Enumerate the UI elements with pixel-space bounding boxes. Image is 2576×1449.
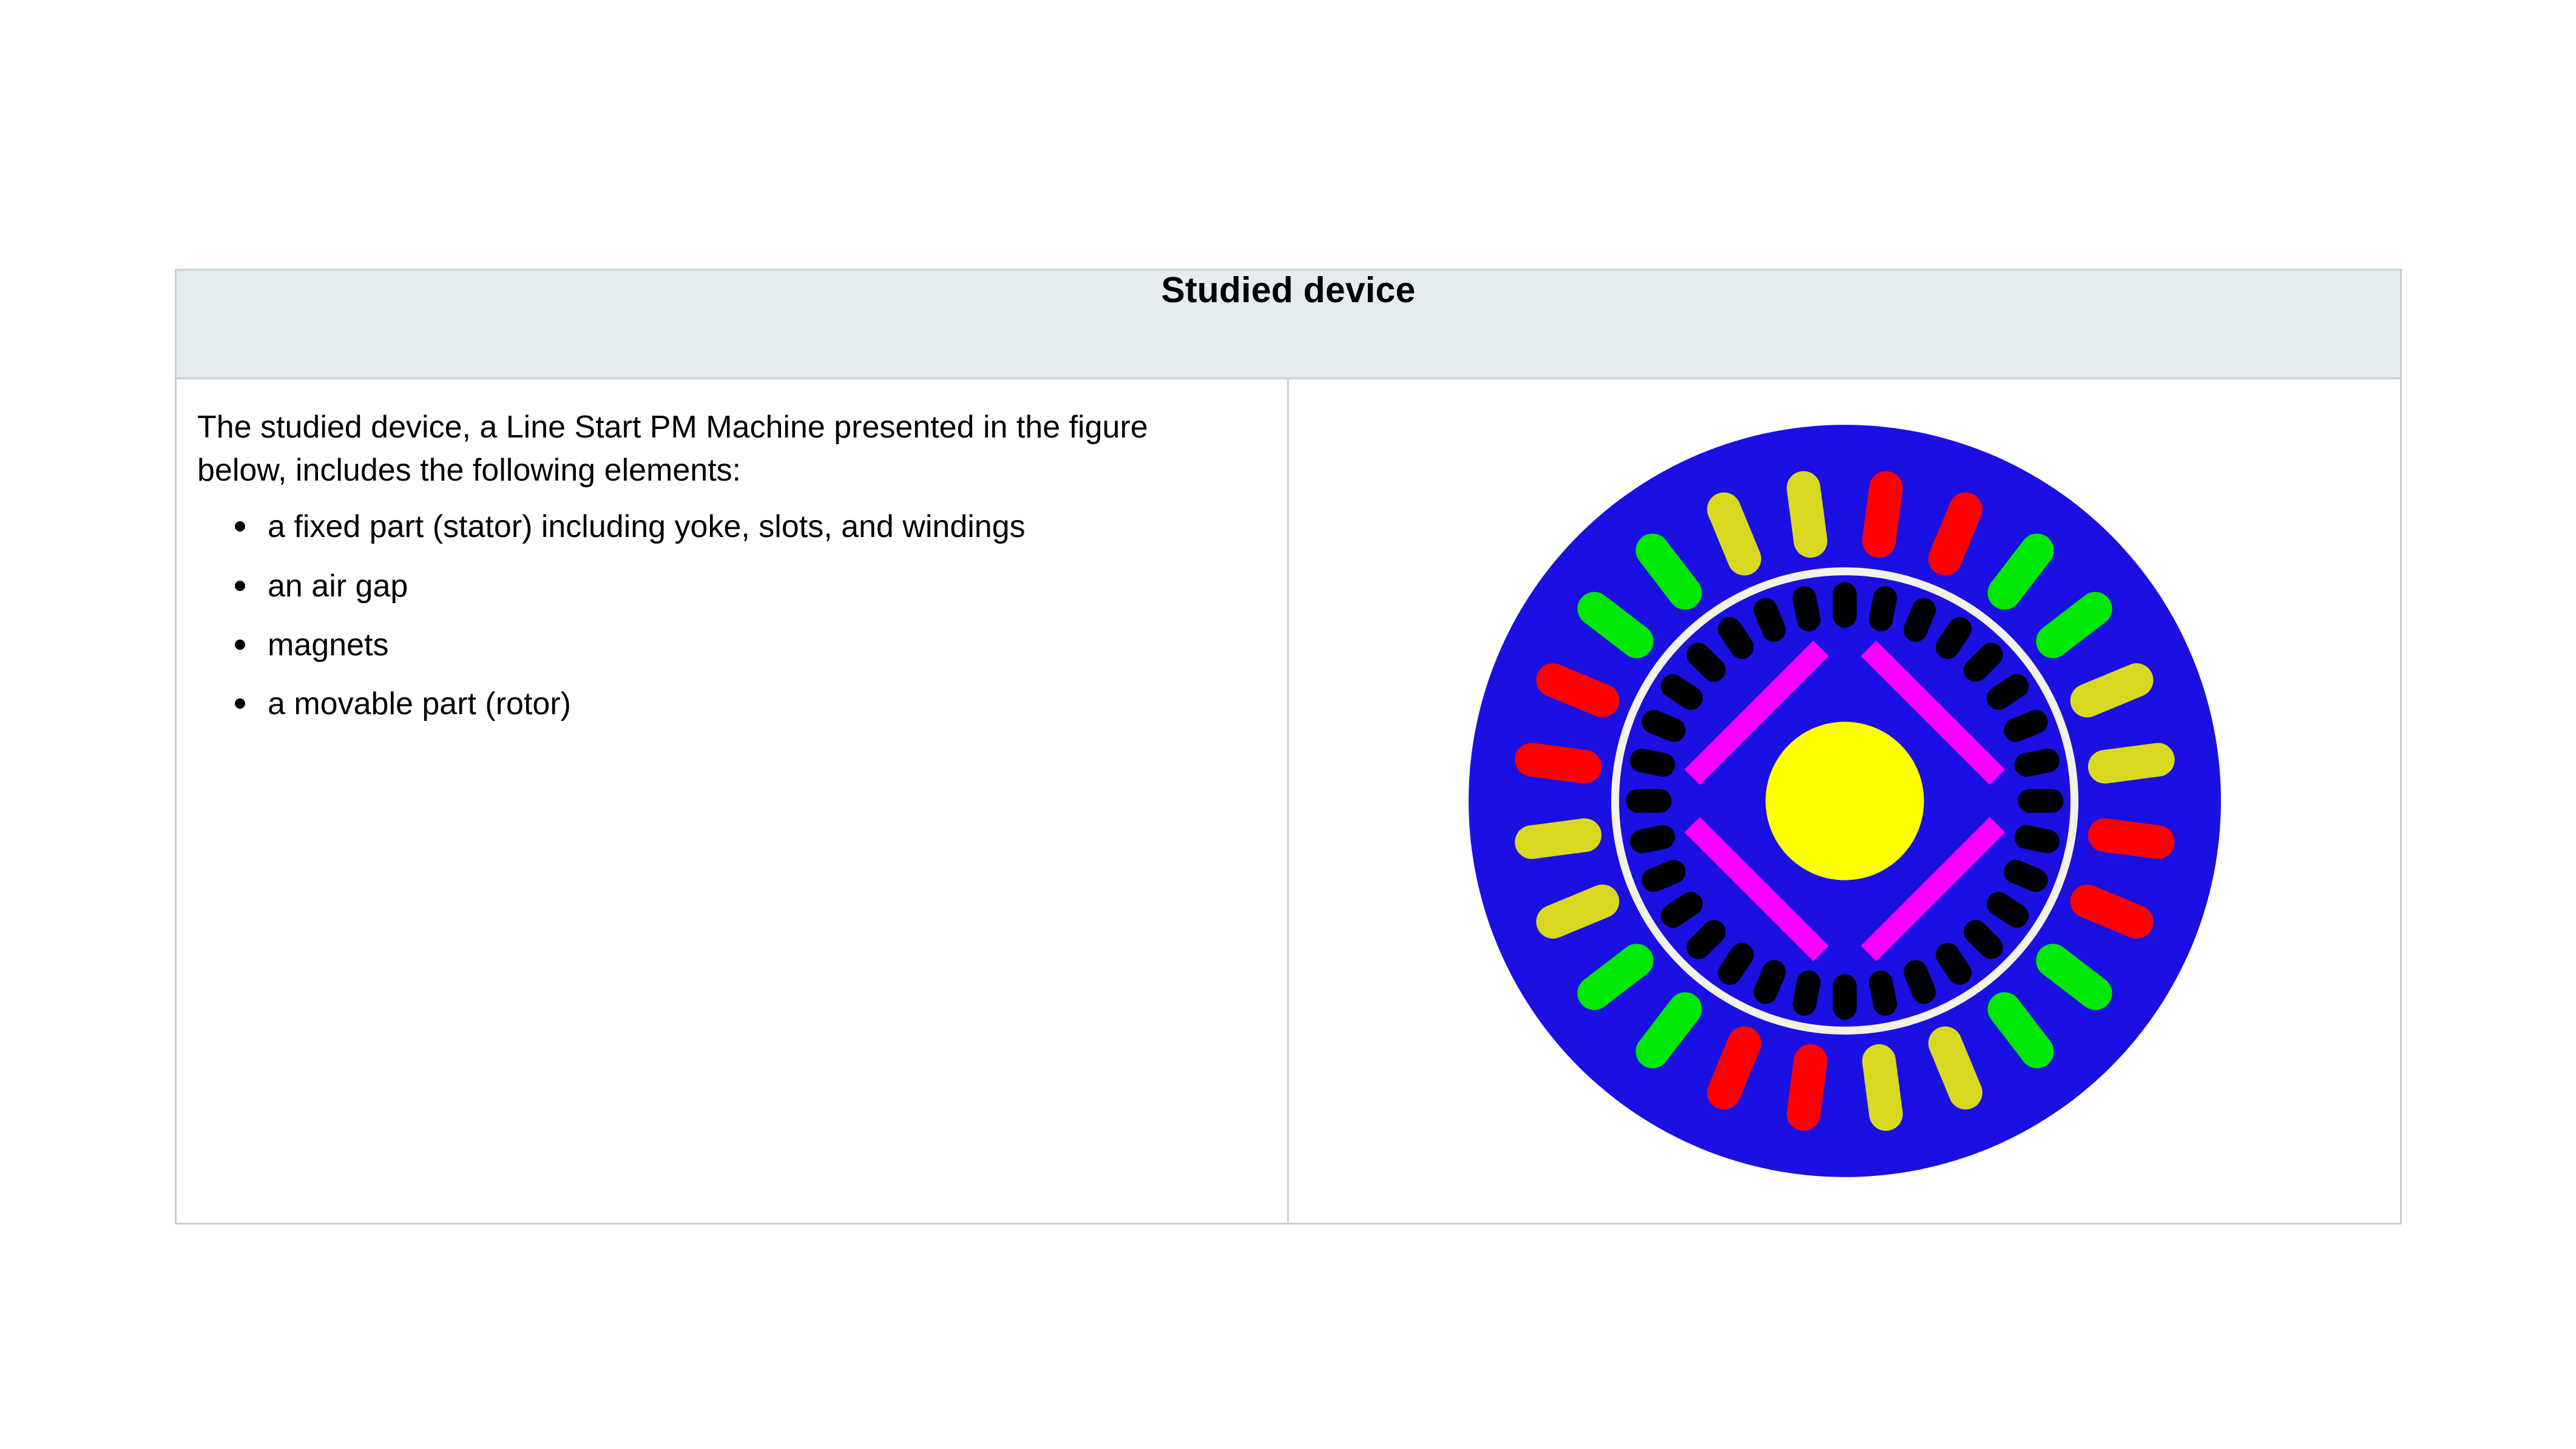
- list-item: an air gap: [197, 565, 1259, 608]
- studied-device-table: Studied device The studied device, a Lin…: [175, 269, 2402, 1224]
- table-header-cell: Studied device: [176, 270, 2401, 379]
- description-content: The studied device, a Line Start PM Mach…: [177, 379, 1287, 754]
- table-body-row: The studied device, a Line Start PM Mach…: [176, 379, 2401, 1224]
- rotor-bar: [2018, 789, 2063, 812]
- machine-elements-list: a fixed part (stator) including yoke, sl…: [197, 505, 1259, 726]
- motor-cross-section-diagram: [1449, 405, 2240, 1197]
- list-item-label: a fixed part (stator) including yoke, sl…: [268, 509, 1026, 544]
- bullet-icon: [235, 581, 245, 591]
- rotor-shaft: [1765, 722, 1924, 880]
- page-title: Studied device: [177, 271, 2400, 310]
- list-item: a movable part (rotor): [197, 683, 1259, 726]
- list-item: magnets: [197, 624, 1259, 667]
- bullet-icon: [235, 698, 245, 709]
- page-root: { "table": { "header_title": "Studied de…: [0, 0, 2576, 1449]
- list-item-label: a movable part (rotor): [268, 686, 571, 721]
- table-header-row: Studied device: [176, 270, 2401, 379]
- rotor-bar: [1833, 582, 1856, 627]
- list-item: a fixed part (stator) including yoke, sl…: [197, 505, 1259, 549]
- intro-paragraph: The studied device, a Line Start PM Mach…: [197, 406, 1192, 492]
- rotor-bar: [1833, 974, 1856, 1019]
- shaft-group: [1765, 722, 1924, 880]
- list-item-label: an air gap: [268, 569, 408, 604]
- list-item-label: magnets: [268, 627, 388, 663]
- bullet-icon: [235, 640, 245, 650]
- description-cell: The studied device, a Line Start PM Mach…: [176, 379, 1288, 1224]
- figure-cell: [1288, 379, 2401, 1224]
- figure-container: [1289, 379, 2400, 1223]
- rotor-bar: [1626, 789, 1671, 812]
- bullet-icon: [235, 521, 245, 532]
